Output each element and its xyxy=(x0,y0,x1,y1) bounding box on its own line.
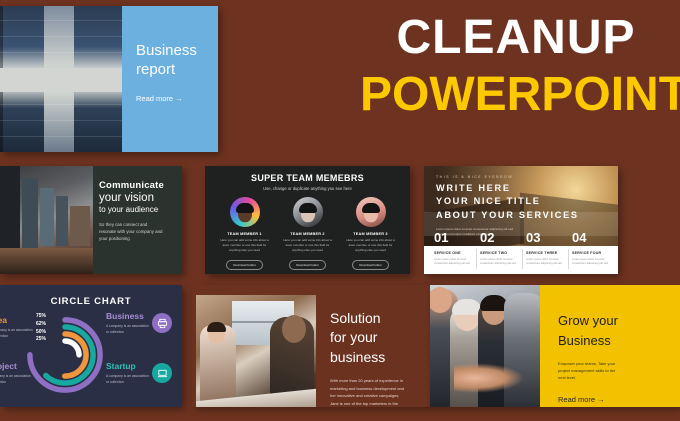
hero-title-line1: CLEANUP xyxy=(360,14,672,62)
communicate-line1: Communicate xyxy=(99,180,174,191)
team-subtitle: Use, change or duplicate anything you se… xyxy=(205,186,410,191)
laptop-icon xyxy=(152,363,172,383)
read-more-link[interactable]: Read more → xyxy=(136,94,218,103)
solution-title-line1: Solution xyxy=(330,309,418,328)
service-cell: SERVICE THREE Lorem ipsum dolor sit amet… xyxy=(526,246,572,274)
service-number: 03 xyxy=(526,230,572,245)
team-member-card: TEAM MEMBER 1 Here you can add some info… xyxy=(218,197,272,271)
chart-legend-body: A company is an association or collectio… xyxy=(106,373,150,385)
chart-legend-project: Project A company is an association or c… xyxy=(0,361,32,385)
hero-title: CLEANUP POWERPOINT xyxy=(360,14,672,120)
chart-legend-startup: Startup A company is an association or c… xyxy=(106,361,150,385)
communicate-body: So they can connect and resonate with yo… xyxy=(99,221,165,242)
team-member-card: TEAM MEMBER 3 Here you can add some info… xyxy=(344,197,398,271)
chart-legend-body: A company is an association or collectio… xyxy=(0,327,34,339)
service-name: SERVICE THREE xyxy=(526,251,566,255)
slide-super-team-members[interactable]: SUPER TEAM MEMEBRS Use, change or duplic… xyxy=(205,166,410,274)
team-member-body: Here you can add some info about a team … xyxy=(281,238,335,253)
services-title-line3: ABOUT YOUR SERVICES xyxy=(436,209,618,222)
business-report-card[interactable]: Business report Read more → xyxy=(0,6,218,152)
communicate-line2: your vision xyxy=(99,192,174,204)
city-buildings-photo xyxy=(0,166,93,274)
chart-legend-business: Business A company is an association or … xyxy=(106,311,150,335)
communicate-text-block: Communicate your vision to your audience… xyxy=(93,166,182,274)
service-body: Lorem ipsum dolor sit amet consectetur a… xyxy=(434,258,474,267)
service-name: SERVICE FOUR xyxy=(572,251,612,255)
service-name: SERVICE TWO xyxy=(480,251,520,255)
team-member-body: Here you can add some info about a team … xyxy=(344,238,398,253)
team-member-name: TEAM MEMBER 1 xyxy=(218,232,272,236)
ring-startup xyxy=(51,341,79,369)
hero-title-line2: POWERPOINT xyxy=(360,70,672,120)
circle-chart-title: CIRCLE CHART xyxy=(0,285,182,307)
business-report-title-line2: report xyxy=(136,61,218,80)
services-eyebrow: THIS IS A NICE EYEBROW xyxy=(436,175,618,179)
team-member-button[interactable]: Download button xyxy=(352,260,389,270)
slide-grow-your-business[interactable]: Grow your Business Empower your teams. T… xyxy=(430,285,680,407)
solution-title: Solution for your business xyxy=(330,309,418,367)
avatar xyxy=(230,197,260,227)
services-title-line1: WRITE HERE xyxy=(436,182,618,195)
services-title-line2: YOUR NICE TITLE xyxy=(436,195,618,208)
team-header: SUPER TEAM MEMEBRS Use, change or duplic… xyxy=(205,166,410,191)
grow-panel: Grow your Business Empower your teams. T… xyxy=(540,285,680,407)
service-number: 01 xyxy=(434,230,480,245)
avatar xyxy=(293,197,323,227)
team-member-name: TEAM MEMBER 3 xyxy=(344,232,398,236)
chart-legend-body: A company is an association or collectio… xyxy=(106,323,150,335)
grow-title-line1: Grow your xyxy=(558,311,666,331)
chart-legend-label: Project xyxy=(0,361,32,371)
service-cell: SERVICE TWO Lorem ipsum dolor sit amet c… xyxy=(480,246,526,274)
service-name: SERVICE ONE xyxy=(434,251,474,255)
audience-applauding-photo xyxy=(430,285,540,407)
avatar xyxy=(356,197,386,227)
printer-icon xyxy=(152,313,172,333)
slide-solution-for-your-business[interactable]: Solution for your business With more tha… xyxy=(192,285,430,407)
chart-legend-body: A company is an association or collectio… xyxy=(0,373,32,385)
service-body: Lorem ipsum dolor sit amet consectetur a… xyxy=(572,258,612,267)
chart-legend-idea: Idea A company is an association or coll… xyxy=(0,315,34,339)
solution-body: With more than 20 years of experience in… xyxy=(330,377,406,407)
slide-showcase-canvas: CLEANUP POWERPOINT Business report Read … xyxy=(0,0,680,421)
service-cell: SERVICE ONE Lorem ipsum dolor sit amet c… xyxy=(434,246,480,274)
grow-body: Empower your teams. Take your project ma… xyxy=(558,360,620,382)
business-report-title-line1: Business xyxy=(136,42,218,61)
team-member-button[interactable]: Download button xyxy=(226,260,263,270)
team-member-button[interactable]: Download button xyxy=(289,260,326,270)
service-cell: SERVICE FOUR Lorem ipsum dolor sit amet … xyxy=(572,246,618,274)
solution-title-line2: for your xyxy=(330,328,418,347)
slide-write-your-title-services[interactable]: THIS IS A NICE EYEBROW WRITE HERE YOUR N… xyxy=(424,166,618,274)
slide-communicate-vision[interactable]: Communicate your vision to your audience… xyxy=(0,166,182,274)
grow-read-more-link[interactable]: Read more → xyxy=(558,395,666,404)
grow-title-line2: Business xyxy=(558,331,666,351)
grow-title: Grow your Business xyxy=(558,311,666,351)
team-member-body: Here you can add some info about a team … xyxy=(218,238,272,253)
services-title: WRITE HERE YOUR NICE TITLE ABOUT YOUR SE… xyxy=(436,182,618,222)
chart-legend-label: Business xyxy=(106,311,150,321)
services-number-row: 01 02 03 04 xyxy=(424,230,618,245)
service-body: Lorem ipsum dolor sit amet consectetur a… xyxy=(526,258,566,267)
service-body: Lorem ipsum dolor sit amet consectetur a… xyxy=(480,258,520,267)
two-people-meeting-photo xyxy=(196,295,316,407)
services-detail-strip: SERVICE ONE Lorem ipsum dolor sit amet c… xyxy=(424,246,618,274)
business-report-title: Business report xyxy=(136,42,218,80)
skyscraper-looking-up-photo xyxy=(0,6,122,152)
slide-circle-chart[interactable]: CIRCLE CHART 75% 62% 50% 25% Idea A comp… xyxy=(0,285,182,407)
service-number: 04 xyxy=(572,230,618,245)
solution-title-line3: business xyxy=(330,348,418,367)
team-member-card: TEAM MEMBER 2 Here you can add some info… xyxy=(281,197,335,271)
service-number: 02 xyxy=(480,230,526,245)
team-members-row: TEAM MEMBER 1 Here you can add some info… xyxy=(205,197,410,271)
team-title: SUPER TEAM MEMEBRS xyxy=(205,173,410,183)
chart-legend-label: Startup xyxy=(106,361,150,371)
chart-legend-label: Idea xyxy=(0,315,34,325)
team-member-name: TEAM MEMBER 2 xyxy=(281,232,335,236)
business-report-panel: Business report Read more → xyxy=(122,6,218,152)
solution-text-block: Solution for your business With more tha… xyxy=(316,285,430,407)
communicate-line3: to your audience xyxy=(99,205,174,214)
